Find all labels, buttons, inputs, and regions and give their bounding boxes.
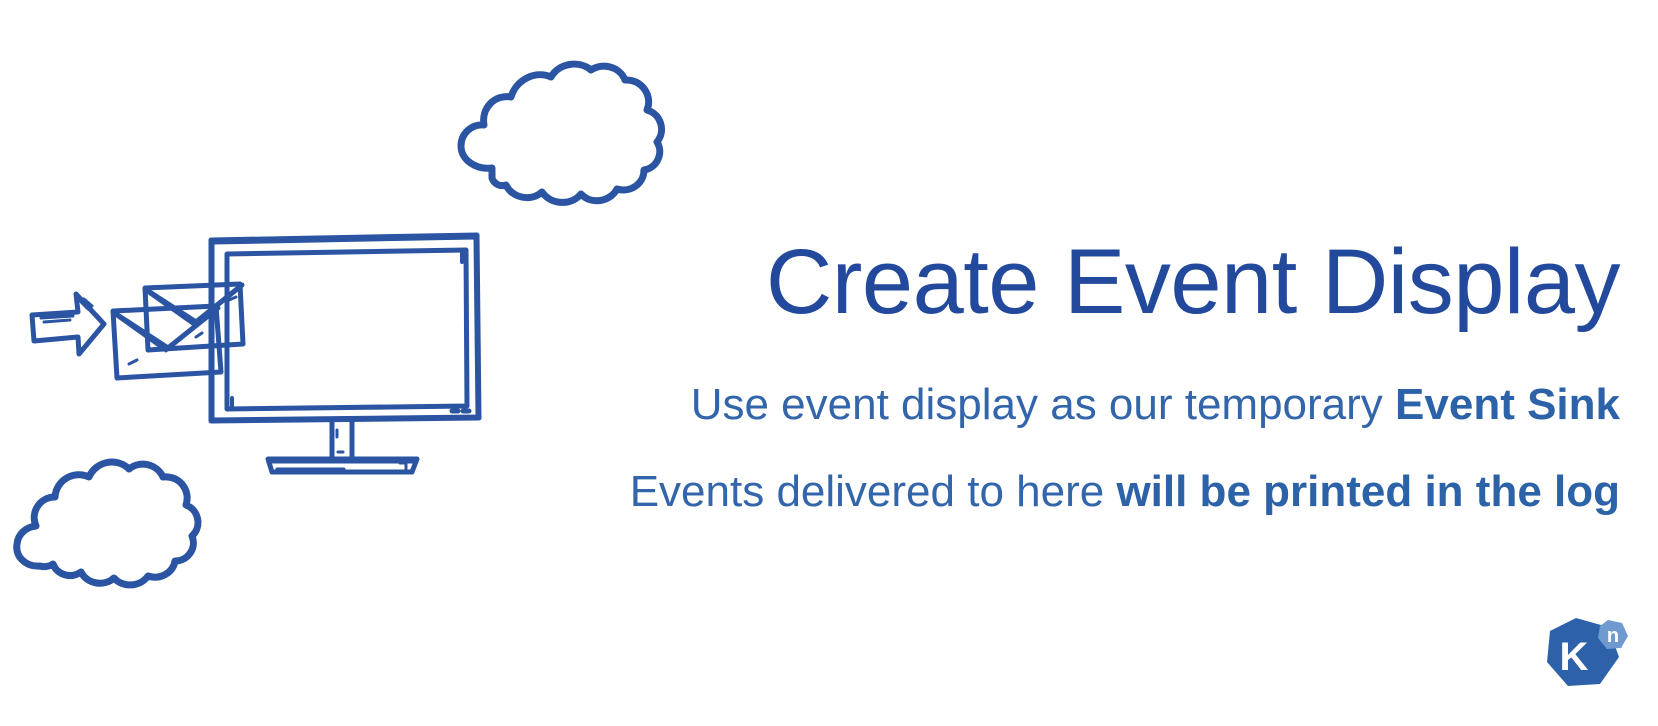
knative-logo-primary-letter: K [1560, 635, 1589, 679]
page-title: Create Event Display [560, 236, 1620, 330]
monitor-icon [211, 235, 479, 472]
cloud-icon [461, 64, 662, 202]
subtitle-2-normal-text: Events delivered to here [630, 467, 1117, 516]
arrow-right-icon [32, 294, 104, 354]
cloud-icon [17, 462, 198, 585]
subtitle-1-emphasis-text: Event Sink [1395, 380, 1620, 429]
subtitle-1-normal-text: Use event display as our temporary [691, 380, 1395, 429]
subtitle-line-1: Use event display as our temporary Event… [560, 382, 1620, 428]
slide-canvas: Create Event Display Use event display a… [0, 0, 1658, 726]
knative-logo: K n [1536, 610, 1640, 706]
subtitle-line-2: Events delivered to here will be printed… [560, 469, 1620, 515]
knative-logo-secondary-letter: n [1607, 625, 1619, 647]
text-block: Create Event Display Use event display a… [560, 236, 1620, 515]
envelope-icon [113, 306, 221, 378]
subtitle-2-emphasis-text: will be printed in the log [1116, 467, 1620, 516]
